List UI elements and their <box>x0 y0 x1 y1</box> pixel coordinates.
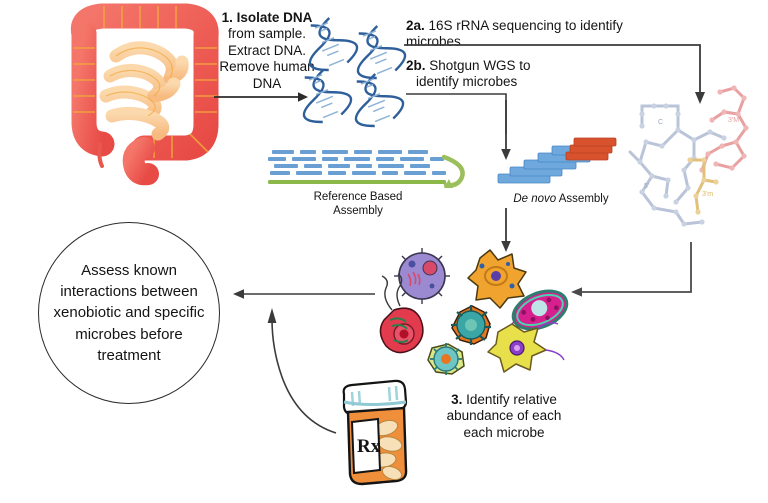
step-2b-line-2: identify microbes <box>406 74 606 90</box>
pill-bottle-rx-label: Rx <box>357 436 381 457</box>
reference-caption-line-2: Assembly <box>288 204 428 218</box>
microbes-to-circle-arrow <box>232 287 377 301</box>
pill-bottle-illustration: Rx <box>328 378 420 488</box>
microbe-virus-particle <box>394 248 450 304</box>
step-3-line-3: each microbe <box>424 425 584 441</box>
microbe-coccus-teal <box>451 305 491 345</box>
assess-conclusion-circle: Assess known interactions between xenobi… <box>38 222 220 404</box>
assembly-curve-arrow <box>440 155 472 193</box>
intestine-illustration <box>58 4 228 179</box>
microbe-amoeba-yellow <box>488 323 564 372</box>
step-2b-line-1: 2b. Shotgun WGS to <box>406 58 606 74</box>
step-3-line-1: 3. Identify relative <box>424 392 584 408</box>
reference-based-assembly-caption: Reference Based Assembly <box>288 190 428 219</box>
de-novo-assembly-caption: De novo Assembly <box>496 192 626 206</box>
svg-text:5': 5' <box>644 183 649 190</box>
assess-line-2: interactions between <box>43 281 215 302</box>
reference-based-assembly-illustration <box>268 148 448 188</box>
rrna-to-microbes-arrow <box>570 242 695 300</box>
dna-helix-illustration <box>303 14 408 129</box>
assess-line-1: Assess known <box>43 260 215 281</box>
step-3-label: 3. Identify relative abundance of each e… <box>424 392 584 441</box>
step-1-arrow <box>214 90 309 104</box>
workflow-diagram: 1. Isolate DNA from sample. Extract DNA.… <box>0 0 768 503</box>
de-novo-italic: De novo <box>513 193 556 205</box>
microbe-diatom-lightblue <box>428 343 464 375</box>
assess-circle-text: Assess known interactions between xenobi… <box>43 260 215 366</box>
assess-line-4: microbes before <box>43 324 215 345</box>
step-3-line-2: abundance of each <box>424 408 584 424</box>
de-novo-assembly-illustration <box>496 138 616 188</box>
assess-line-3: xenobiotic and specific <box>43 302 215 323</box>
microbe-cluster-illustration <box>372 248 572 373</box>
svg-text:3'M: 3'M <box>728 117 739 124</box>
svg-text:C: C <box>658 119 663 126</box>
reference-caption-line-1: Reference Based <box>288 190 428 204</box>
svg-text:3'm: 3'm <box>702 191 713 198</box>
step-2b-label: 2b. Shotgun WGS to identify microbes <box>406 58 606 91</box>
microbe-amoeba-orange <box>468 250 526 308</box>
de-novo-rest: Assembly <box>556 193 608 205</box>
rrna-secondary-structure-illustration: C 5' 3'M 3'm <box>632 84 764 252</box>
assess-line-5: treatment <box>43 345 215 366</box>
